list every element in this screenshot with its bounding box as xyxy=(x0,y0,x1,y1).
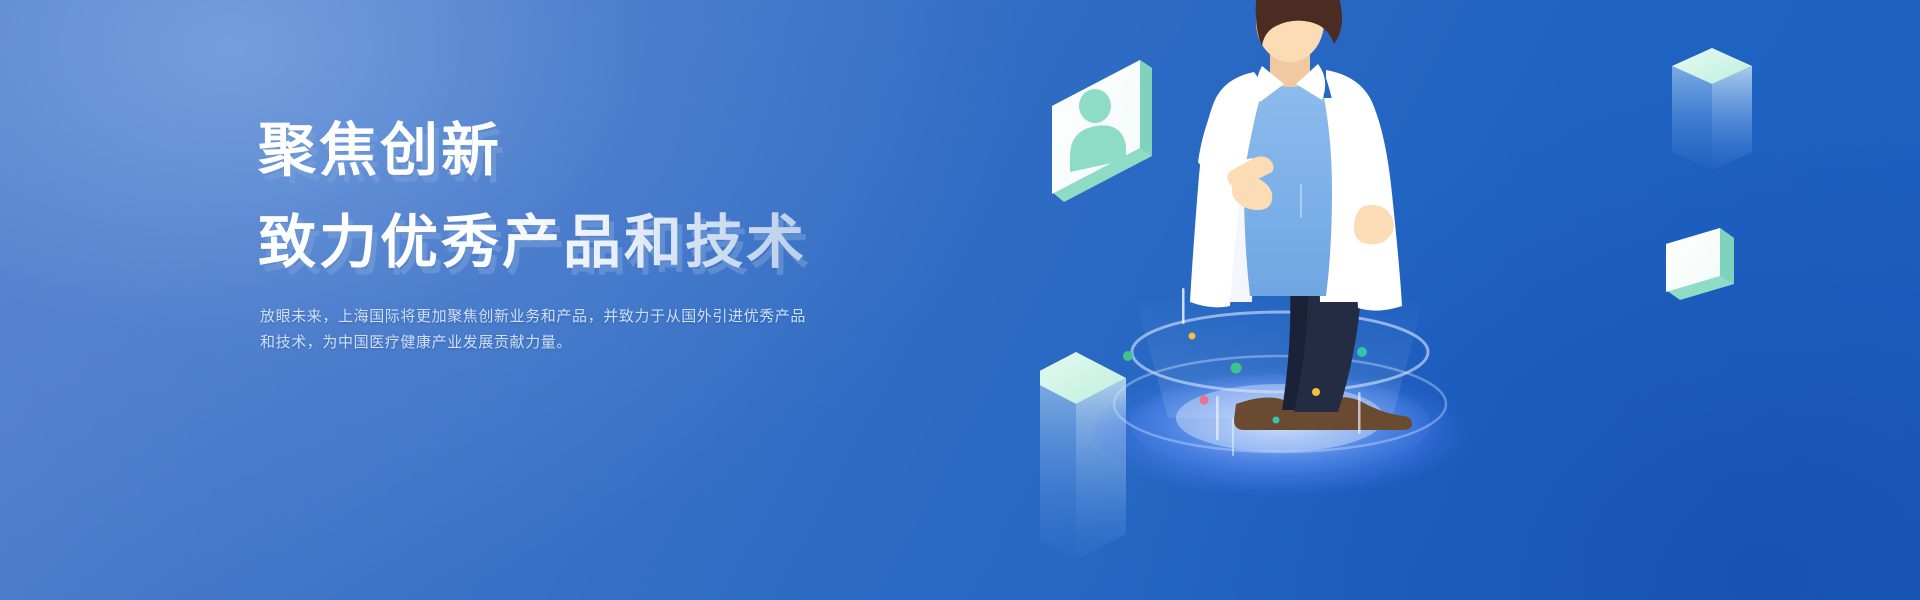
particle-pink xyxy=(1200,396,1209,405)
banner-text-block: 聚焦创新 致力优秀产品和技术 放眼未来，上海国际将更加聚焦创新业务和产品，并致力… xyxy=(258,108,898,286)
particle-yellow-right xyxy=(1312,388,1320,396)
particle-teal-bottom xyxy=(1273,417,1280,424)
banner-subtitle: 放眼未来，上海国际将更加聚焦创新业务和产品，并致力于从国外引进优秀产品 和技术，… xyxy=(260,304,860,356)
particle-green-left xyxy=(1123,351,1133,361)
particle-yellow-top xyxy=(1189,333,1196,340)
headline-line-1: 聚焦创新 xyxy=(258,108,898,194)
holographic-platform xyxy=(1092,300,1468,496)
banner-illustration xyxy=(1040,0,1920,600)
decorative-card-right xyxy=(1666,228,1734,300)
hero-banner: 聚焦创新 致力优秀产品和技术 放眼未来，上海国际将更加聚焦创新业务和产品，并致力… xyxy=(0,0,1920,600)
particle-green-mid xyxy=(1231,363,1242,374)
floating-avatar-card xyxy=(1052,60,1152,202)
particle-teal-right xyxy=(1357,347,1367,357)
subtitle-line-2: 和技术，为中国医疗健康产业发展贡献力量。 xyxy=(260,330,860,356)
subtitle-line-1: 放眼未来，上海国际将更加聚焦创新业务和产品，并致力于从国外引进优秀产品 xyxy=(260,304,860,330)
decorative-bar-top-right xyxy=(1672,48,1752,170)
headline-line-2: 致力优秀产品和技术 xyxy=(258,200,898,286)
